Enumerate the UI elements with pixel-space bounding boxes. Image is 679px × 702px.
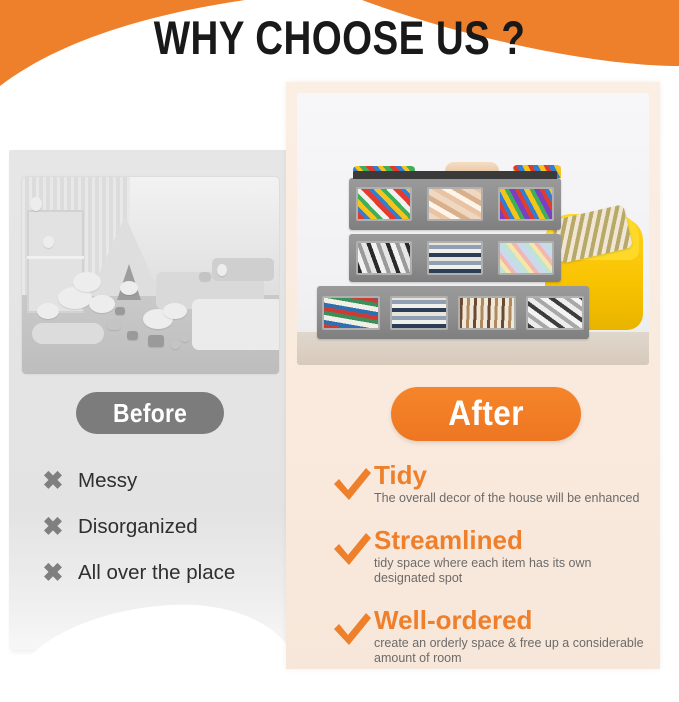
after-list: Tidy The overall decor of the house will… — [330, 460, 656, 685]
photo-toy — [30, 197, 42, 211]
after-item-text: Well-ordered create an orderly space & f… — [374, 605, 656, 666]
photo-toy — [73, 272, 101, 292]
after-panel: After Tidy The overall decor of the hous… — [286, 82, 660, 669]
x-mark-icon: ✖ — [40, 515, 66, 540]
photo-bin-window — [458, 296, 516, 330]
list-item: ✖ Messy — [40, 458, 290, 504]
photo-bin-window — [356, 187, 412, 221]
photo-toy — [148, 335, 164, 347]
before-item-label: All over the place — [78, 561, 235, 585]
before-item-label: Disorganized — [78, 515, 198, 539]
before-badge: Before — [76, 392, 224, 434]
check-mark-icon — [330, 462, 374, 506]
before-badge-label: Before — [113, 398, 187, 429]
after-item-text: Tidy The overall decor of the house will… — [374, 460, 639, 506]
before-panel: Before ✖ Messy ✖ Disorganized ✖ All over… — [9, 150, 292, 650]
list-item: Streamlined tidy space where each item h… — [330, 525, 656, 586]
photo-bin-window — [498, 241, 554, 275]
check-mark-icon — [330, 607, 374, 651]
list-item: ✖ Disorganized — [40, 504, 290, 550]
photo-bin-window — [526, 296, 584, 330]
photo-bin-window — [390, 296, 448, 330]
photo-bin-window — [322, 296, 380, 330]
photo-bin-lid — [353, 171, 557, 179]
photo-toy — [89, 295, 115, 313]
photo-toy — [115, 307, 125, 315]
photo-storage-bin-row — [349, 178, 561, 230]
photo-toy — [43, 236, 54, 248]
photo-storage-bin-row — [317, 286, 589, 339]
photo-toy — [199, 272, 211, 281]
photo-bin-window — [356, 241, 412, 275]
after-item-text: Streamlined tidy space where each item h… — [374, 525, 642, 586]
photo-storage-bin-row — [349, 234, 561, 282]
check-mark-icon — [330, 527, 374, 571]
photo-shelf-divider — [27, 256, 84, 259]
photo-toy — [181, 335, 189, 342]
photo-bin-window — [427, 187, 483, 221]
photo-bed — [192, 299, 279, 350]
after-item-desc: create an orderly space & free up a cons… — [374, 636, 656, 666]
photo-toy — [107, 319, 121, 330]
x-mark-icon: ✖ — [40, 561, 66, 586]
page-title: WHY CHOOSE US ? — [61, 13, 618, 63]
after-item-title: Streamlined — [374, 526, 642, 554]
list-item: Tidy The overall decor of the house will… — [330, 460, 656, 506]
photo-bin-window — [427, 241, 483, 275]
list-item: ✖ All over the place — [40, 550, 290, 596]
after-item-desc: The overall decor of the house will be e… — [374, 491, 639, 506]
after-item-title: Tidy — [374, 461, 639, 489]
after-item-title: Well-ordered — [374, 606, 656, 634]
after-badge: After — [391, 387, 581, 441]
x-mark-icon: ✖ — [40, 469, 66, 494]
after-item-desc: tidy space where each item has its own d… — [374, 556, 642, 586]
before-list: ✖ Messy ✖ Disorganized ✖ All over the pl… — [40, 458, 290, 596]
before-photo — [22, 177, 279, 374]
photo-toy — [127, 331, 138, 340]
after-badge-label: After — [448, 394, 524, 434]
photo-play-mat — [32, 323, 104, 345]
photo-bin-window — [498, 187, 554, 221]
before-item-label: Messy — [78, 469, 137, 493]
after-photo — [297, 93, 649, 365]
list-item: Well-ordered create an orderly space & f… — [330, 605, 656, 666]
photo-toy — [217, 264, 227, 276]
photo-toy — [171, 341, 180, 349]
